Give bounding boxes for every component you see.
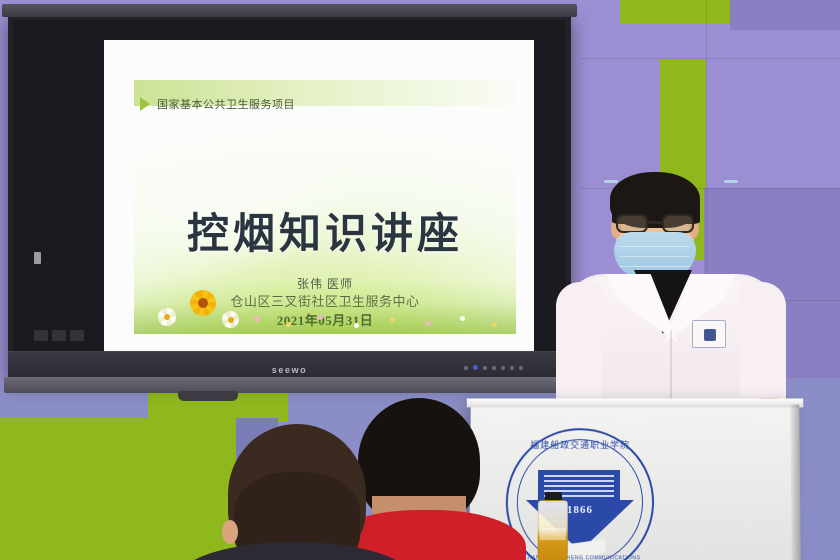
presenter-doctor — [556, 170, 786, 420]
panel-foot — [178, 391, 238, 401]
program-banner-text: 国家基本公共卫生服务项目 — [157, 96, 295, 112]
wall-panel-green-lowerleft — [0, 418, 236, 560]
bud-icon — [426, 321, 431, 326]
seal-institution-en: FUJIAN CHUANZHENG COMMUNICATIONS COLLEGE — [507, 555, 652, 560]
slide-program-banner: 国家基本公共卫生服务项目 — [140, 96, 295, 112]
seal-founded-year: 1866 — [508, 504, 652, 516]
wall-panel-green-top — [620, 0, 730, 24]
classroom-scene: 国家基本公共卫生服务项目 控烟知识讲座 张伟 医师 仓山区三叉街社区卫生服务中心… — [0, 0, 840, 560]
triangle-bullet-icon — [140, 97, 150, 111]
daisy-icon — [158, 308, 176, 326]
panel-mini-buttons[interactable] — [34, 330, 84, 341]
bottle-label — [540, 528, 566, 540]
bud-icon — [460, 316, 465, 321]
glasses-icon — [614, 214, 696, 234]
panel-stand — [4, 377, 579, 393]
sunflower-icon — [190, 290, 216, 316]
panel-top-frame — [2, 4, 577, 17]
presenter-arm-right — [740, 282, 786, 412]
podium-side-edge — [790, 404, 800, 560]
audience-head — [228, 424, 366, 560]
mask-strap-left — [604, 180, 618, 183]
panel-bottom-frame: seewo — [8, 351, 571, 379]
wall-seam — [580, 58, 840, 59]
bud-icon — [318, 315, 323, 320]
bud-icon — [254, 316, 260, 322]
coat-badge — [692, 320, 726, 348]
bud-icon — [390, 317, 395, 322]
presenter-arm-left — [556, 282, 602, 412]
audience-ear — [222, 520, 238, 544]
college-seal: 福建船政交通职业学院 1866 FUJIAN CHUANZHENG COMMUN… — [505, 428, 654, 560]
bud-icon — [354, 323, 359, 328]
daisy-icon — [222, 311, 239, 328]
podium-top-edge — [467, 398, 803, 407]
panel-screen[interactable]: 国家基本公共卫生服务项目 控烟知识讲座 张伟 医师 仓山区三叉街社区卫生服务中心… — [104, 40, 534, 370]
panel-control-leds[interactable] — [464, 365, 523, 370]
panel-side-button[interactable] — [34, 252, 41, 264]
slide-title: 控烟知识讲座 — [134, 200, 516, 261]
glasses-lens-right — [662, 214, 694, 233]
slide-flower-border — [134, 280, 516, 334]
glasses-lens-left — [616, 214, 648, 233]
wall-panel-purple-topright — [730, 0, 840, 30]
bud-icon — [286, 322, 291, 327]
audience-member-left — [228, 424, 366, 560]
mask-strap-right — [724, 180, 738, 183]
interactive-flat-panel[interactable]: 国家基本公共卫生服务项目 控烟知识讲座 张伟 医师 仓山区三叉街社区卫生服务中心… — [8, 14, 571, 379]
presentation-slide[interactable]: 国家基本公共卫生服务项目 控烟知识讲座 张伟 医师 仓山区三叉街社区卫生服务中心… — [104, 40, 534, 370]
audience-member-right — [358, 398, 480, 524]
glasses-bridge — [648, 221, 662, 224]
seal-institution-cn: 福建船政交通职业学院 — [508, 438, 652, 451]
slide-canvas: 国家基本公共卫生服务项目 控烟知识讲座 张伟 医师 仓山区三叉街社区卫生服务中心… — [134, 72, 516, 334]
bud-icon — [492, 322, 497, 327]
